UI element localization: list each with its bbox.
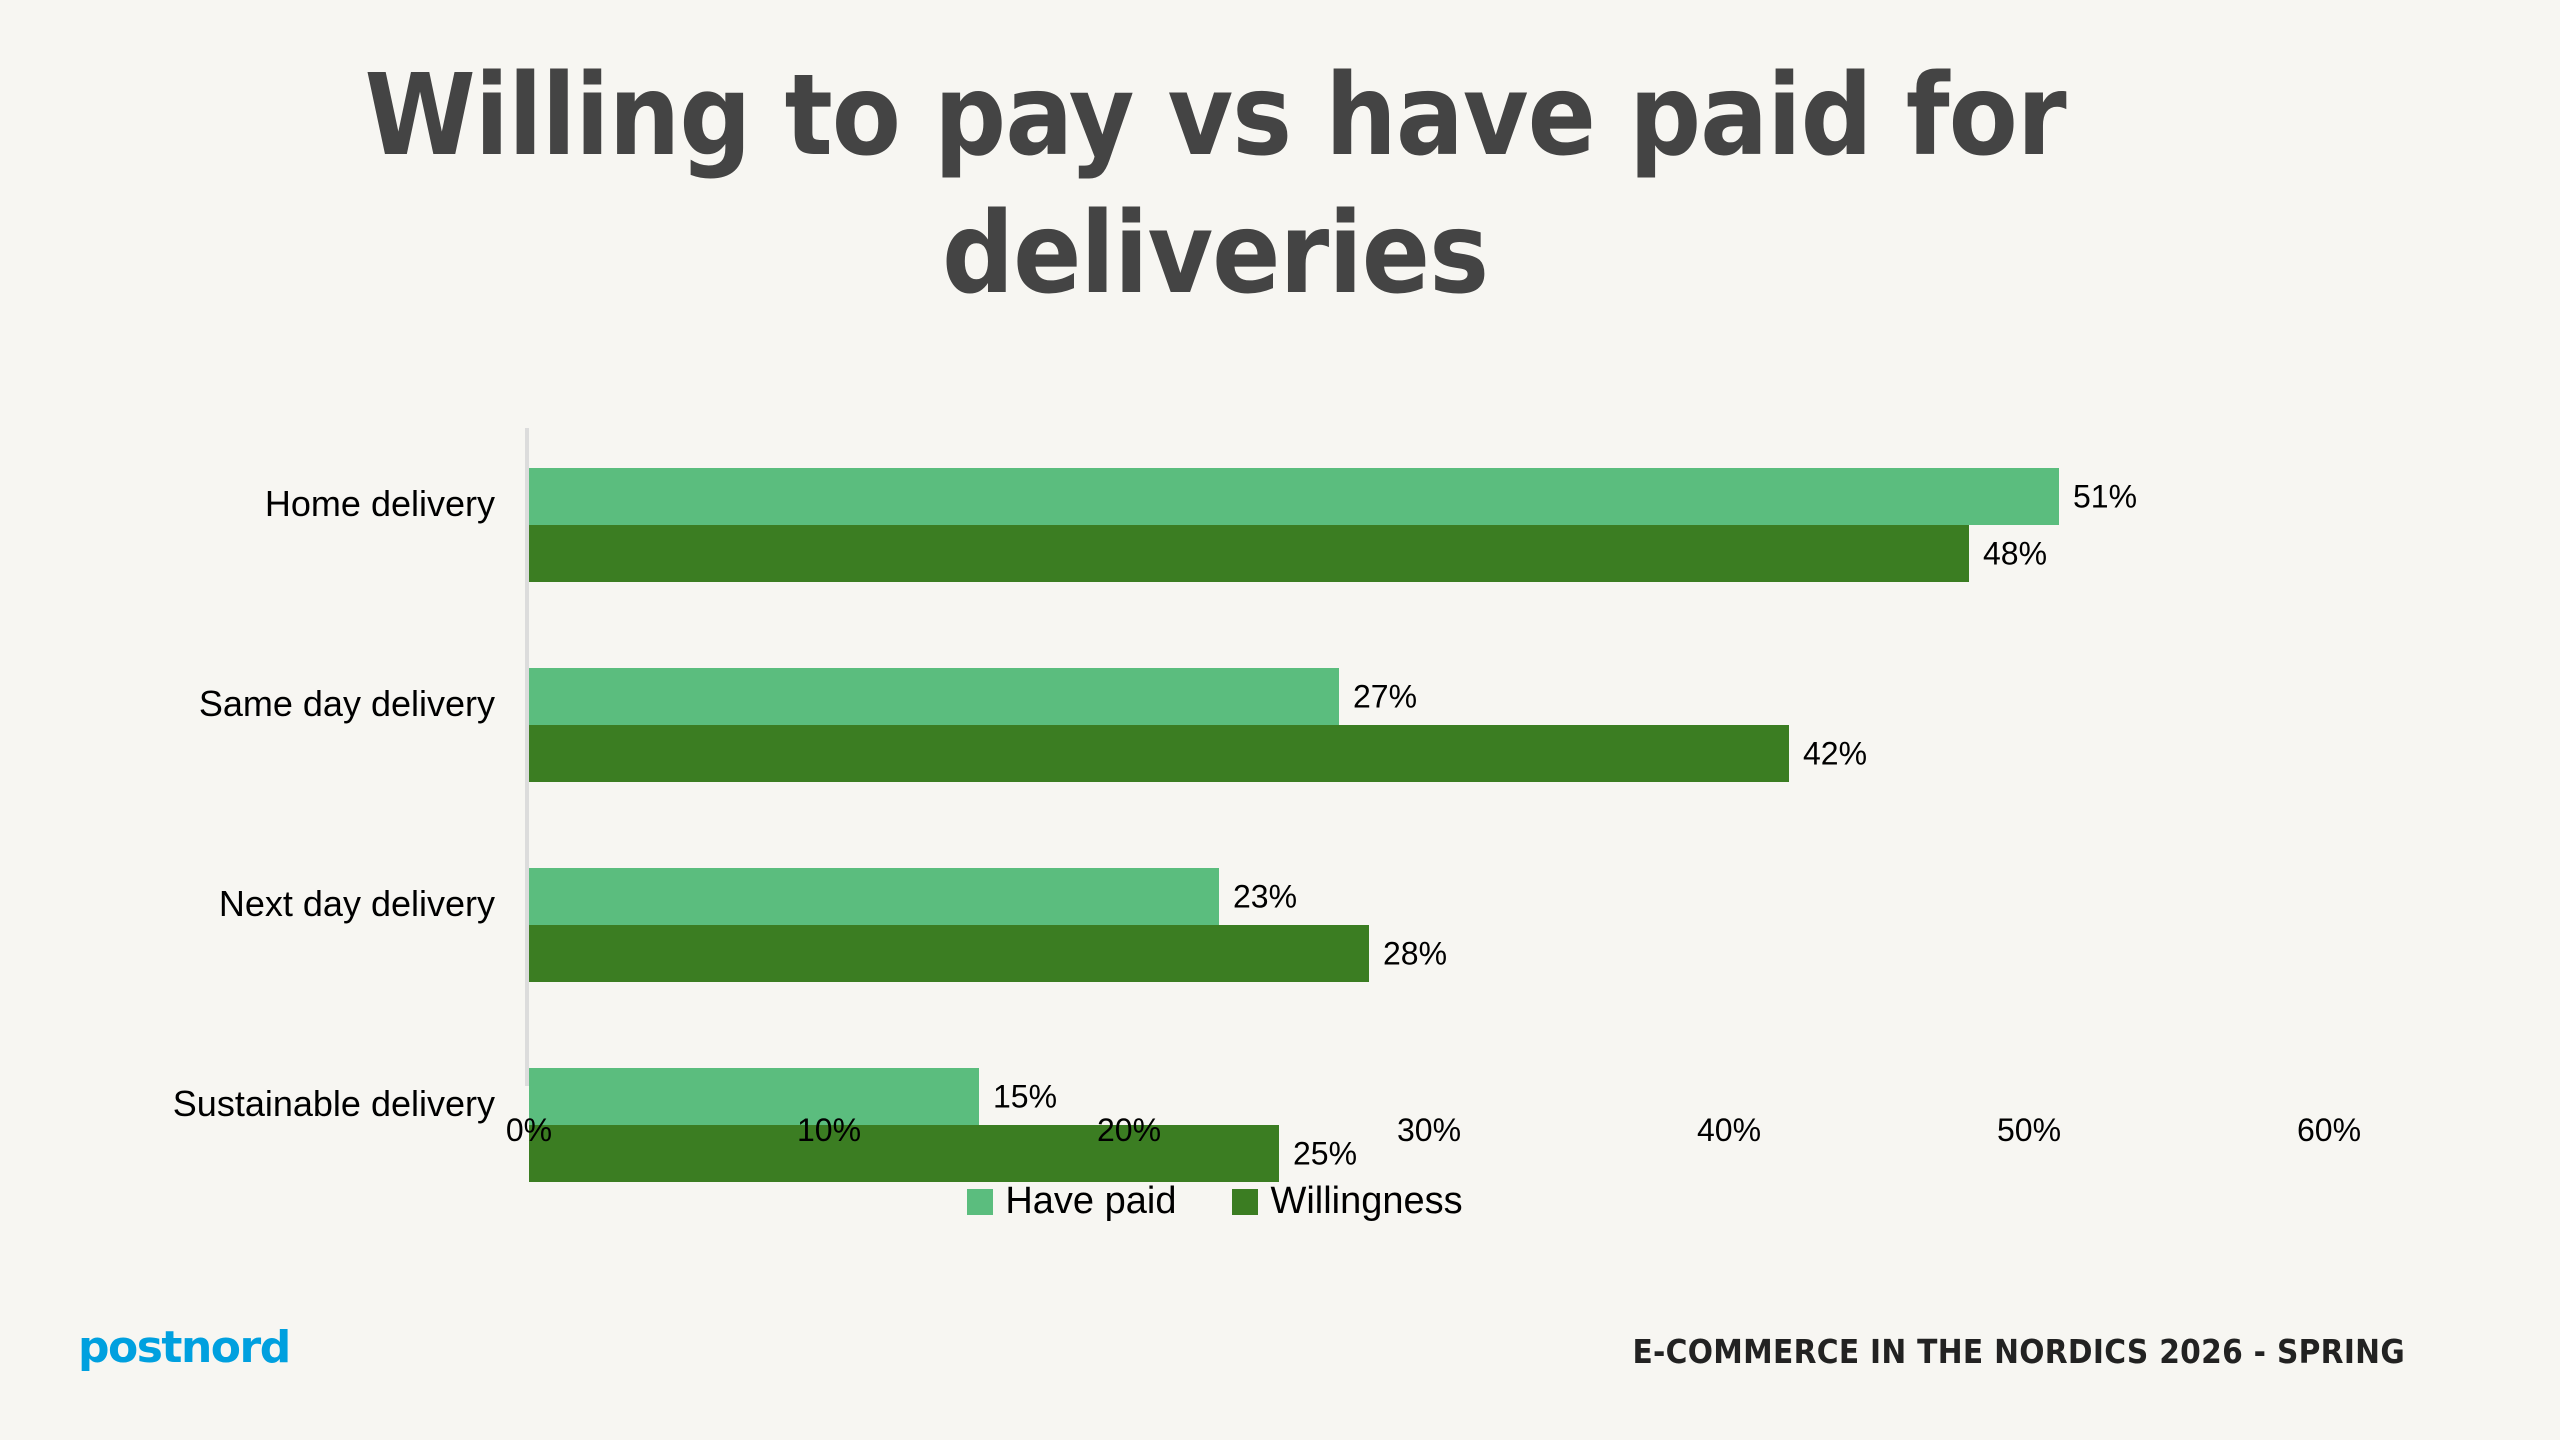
legend-item-have-paid[interactable]: Have paid xyxy=(967,1180,1176,1223)
bar-value-have-paid-home-delivery: 51% xyxy=(2073,478,2137,515)
bar-group-next-day-delivery: 23% 28% xyxy=(529,868,2429,982)
bar-row-willingness: 28% xyxy=(529,925,2429,982)
bar-value-willingness-next-day-delivery: 28% xyxy=(1383,935,1447,972)
legend-swatch-icon-have-paid xyxy=(967,1189,993,1215)
bar-have-paid-home-delivery[interactable] xyxy=(529,468,2059,525)
bar-value-willingness-home-delivery: 48% xyxy=(1983,535,2047,572)
x-axis-tick-10: 10% xyxy=(797,1112,861,1149)
bar-value-have-paid-same-day-delivery: 27% xyxy=(1353,678,1417,715)
bar-value-have-paid-next-day-delivery: 23% xyxy=(1233,878,1297,915)
bar-have-paid-next-day-delivery[interactable] xyxy=(529,868,1219,925)
postnord-logo: postnord xyxy=(78,1322,290,1373)
x-axis-tick-20: 20% xyxy=(1097,1112,1161,1149)
x-axis-tick-0: 0% xyxy=(506,1112,552,1149)
bars-container: 51% 48% 27% 42% 23% xyxy=(529,420,2429,1095)
x-axis-tick-40: 40% xyxy=(1697,1112,1761,1149)
x-axis-ticks: 0%10%20%30%40%50%60% xyxy=(0,1112,2560,1172)
footer-caption: E-COMMERCE IN THE NORDICS 2026 - SPRING xyxy=(1632,1332,2405,1371)
bar-willingness-next-day-delivery[interactable] xyxy=(529,925,1369,982)
bar-willingness-same-day-delivery[interactable] xyxy=(529,725,1789,782)
bar-willingness-home-delivery[interactable] xyxy=(529,525,1969,582)
legend-item-willingness[interactable]: Willingness xyxy=(1232,1180,1462,1223)
bar-value-have-paid-sustainable-delivery: 15% xyxy=(993,1078,1057,1115)
bar-row-have-paid: 27% xyxy=(529,668,2429,725)
bar-row-willingness: 42% xyxy=(529,725,2429,782)
bar-row-have-paid: 51% xyxy=(529,468,2429,525)
legend-label-have-paid: Have paid xyxy=(1005,1180,1176,1223)
bar-value-willingness-same-day-delivery: 42% xyxy=(1803,735,1867,772)
bar-row-willingness: 48% xyxy=(529,525,2429,582)
chart-legend: Have paid Willingness xyxy=(0,1180,2430,1223)
page-title: Willing to pay vs have paid for deliveri… xyxy=(0,48,2430,324)
x-axis-tick-50: 50% xyxy=(1997,1112,2061,1149)
bar-group-same-day-delivery: 27% 42% xyxy=(529,668,2429,782)
bar-have-paid-same-day-delivery[interactable] xyxy=(529,668,1339,725)
legend-label-willingness: Willingness xyxy=(1270,1180,1462,1223)
plot-area: 51% 48% 27% 42% 23% xyxy=(0,420,2560,1120)
bar-group-home-delivery: 51% 48% xyxy=(529,468,2429,582)
bar-row-have-paid: 23% xyxy=(529,868,2429,925)
x-axis-tick-30: 30% xyxy=(1397,1112,1461,1149)
x-axis-tick-60: 60% xyxy=(2297,1112,2361,1149)
legend-swatch-icon-willingness xyxy=(1232,1189,1258,1215)
